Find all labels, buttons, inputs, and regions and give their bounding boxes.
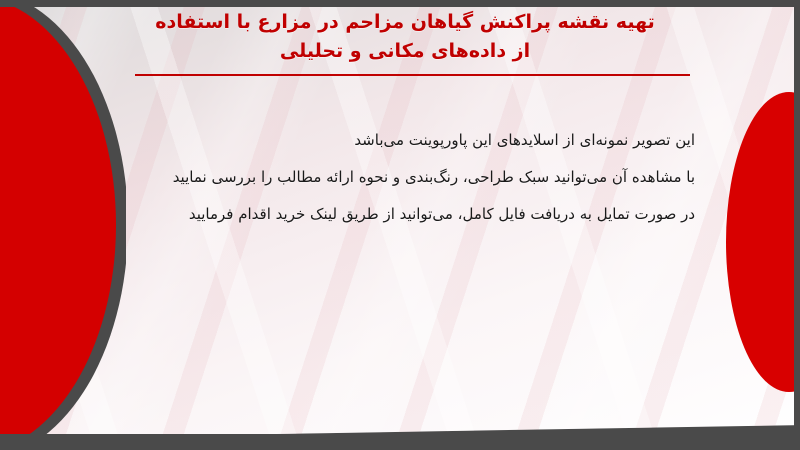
right-frame-band [794,0,800,450]
slide-title: تهیه نقشه پراکنش گیاهان مزاحم در مزارع ب… [120,8,690,66]
slide-title-line-2: از داده‌های مکانی و تحلیلی [120,37,690,66]
right-decoration-group [710,0,800,440]
top-frame-band [0,0,800,7]
body-text-line-3: در صورت تمایل به دریافت فایل کامل، می‌تو… [110,196,695,233]
slide-title-line-1: تهیه نقشه پراکنش گیاهان مزاحم در مزارع ب… [120,8,690,37]
left-decoration-group [0,0,126,450]
body-text-line-2: با مشاهده آن می‌توانید سبک طراحی، رنگ‌بن… [110,159,695,196]
presentation-slide: تهیه نقشه پراکنش گیاهان مزاحم در مزارع ب… [0,0,800,450]
left-crescent-shape [0,0,116,450]
bottom-frame-band [0,434,800,450]
body-text-line-1: این تصویر نمونه‌ای از اسلایدهای این پاور… [110,122,695,159]
title-underline-rule [135,74,690,76]
right-ellipse-shape [726,92,800,392]
slide-body-text: این تصویر نمونه‌ای از اسلایدهای این پاور… [110,122,695,233]
